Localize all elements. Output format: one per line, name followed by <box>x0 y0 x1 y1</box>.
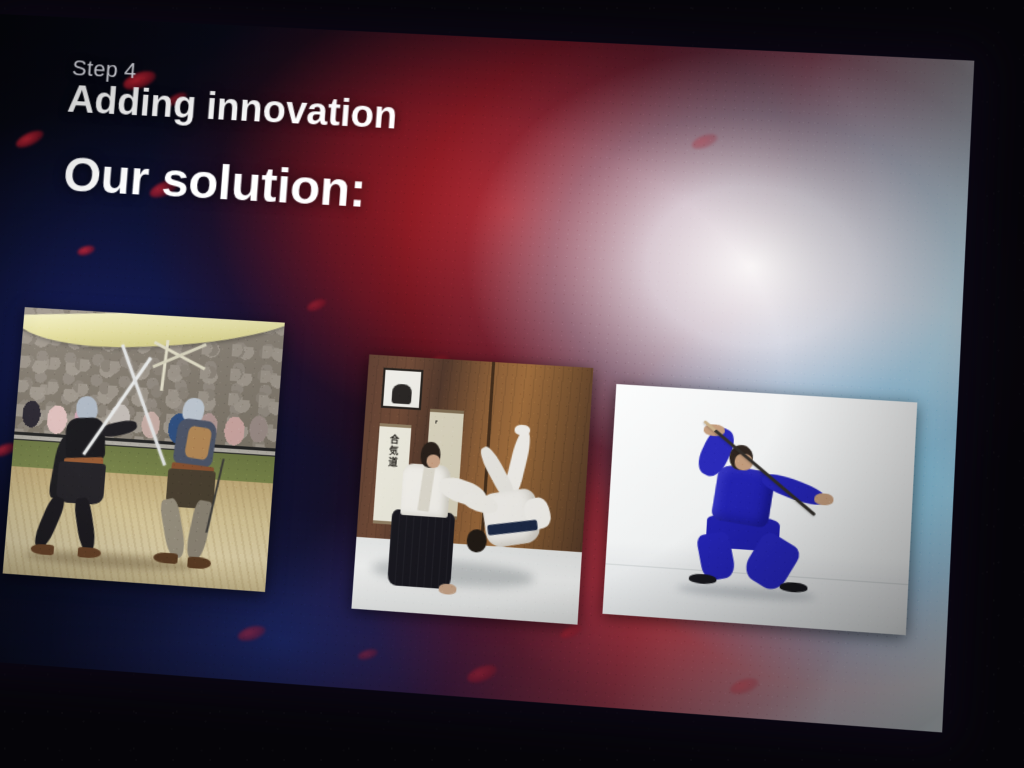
projected-slide: Step 4 Adding innovation Our solution: W… <box>0 14 974 733</box>
projection-screen-wrapper: Step 4 Adding innovation Our solution: W… <box>0 0 1024 768</box>
slide-vignette-overlay <box>0 14 974 733</box>
